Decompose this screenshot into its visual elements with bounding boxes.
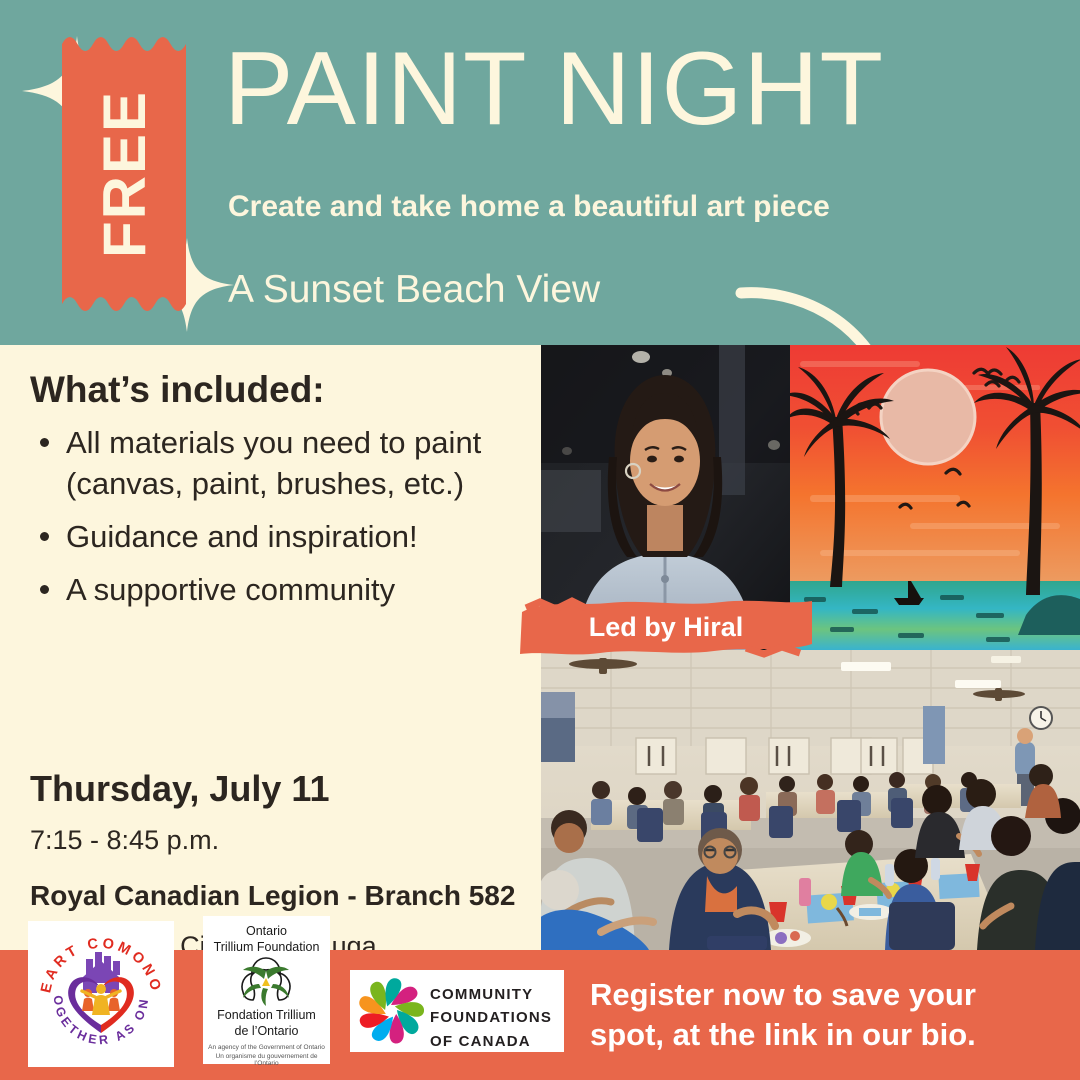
community-foundations-of-canada-logo: COMMUNITY FOUNDATIONS OF CANADA	[350, 970, 564, 1052]
list-item: A supportive community	[30, 570, 530, 611]
heart-comonos-logo: HEART COMONOS TOGETHER AS ONE	[28, 921, 174, 1067]
workshop-room-photo	[541, 650, 1080, 950]
included-list: All materials you need to paint (canvas,…	[30, 423, 530, 623]
trillium-flower-icon	[235, 954, 298, 1006]
cfc-line-1: COMMUNITY	[430, 983, 552, 1006]
trillium-line-2: Trillium Foundation	[203, 940, 330, 954]
sunset-painting-photo	[790, 345, 1080, 650]
header-tagline: A Sunset Beach View	[228, 268, 600, 312]
trillium-agency-en: An agency of the Government of Ontario	[203, 1044, 330, 1051]
cfc-line-2: FOUNDATIONS	[430, 1006, 552, 1029]
instructor-badge-label: Led by Hiral	[516, 596, 816, 658]
cfc-petal-icon	[358, 978, 424, 1044]
trillium-agency-fr: Un organisme du gouvernement de l’Ontari…	[203, 1053, 330, 1067]
cfc-wordmark: COMMUNITY FOUNDATIONS OF CANADA	[430, 983, 552, 1053]
curved-arrow-icon	[735, 275, 935, 345]
register-cta-text: Register now to save your spot, at the l…	[590, 975, 1010, 1054]
trillium-fr-line-1: Fondation Trillium	[203, 1008, 330, 1022]
event-venue: Royal Canadian Legion - Branch 582	[30, 880, 515, 912]
cfc-line-3: OF CANADA	[430, 1030, 552, 1053]
page-title: PAINT NIGHT	[224, 36, 884, 142]
details-column: What’s included: All materials you need …	[0, 345, 541, 950]
instructor-badge: Led by Hiral	[516, 596, 816, 658]
trillium-fr-line-2: de l’Ontario	[203, 1024, 330, 1038]
ontario-trillium-foundation-logo: Ontario Trillium Foundation Fondation Tr…	[203, 916, 330, 1064]
trillium-line-1: Ontario	[203, 924, 330, 938]
header-subtitle: Create and take home a beautiful art pie…	[228, 190, 830, 224]
poster-header: FREE PAINT NIGHT Create and take home a …	[0, 0, 1080, 345]
list-item: All materials you need to paint (canvas,…	[30, 423, 530, 505]
free-ticket-badge: FREE	[62, 30, 186, 318]
paint-night-poster: FREE PAINT NIGHT Create and take home a …	[0, 0, 1080, 1080]
event-date: Thursday, July 11	[30, 768, 329, 810]
list-item: Guidance and inspiration!	[30, 517, 530, 558]
event-time: 7:15 - 8:45 p.m.	[30, 825, 219, 856]
included-heading: What’s included:	[30, 369, 325, 411]
